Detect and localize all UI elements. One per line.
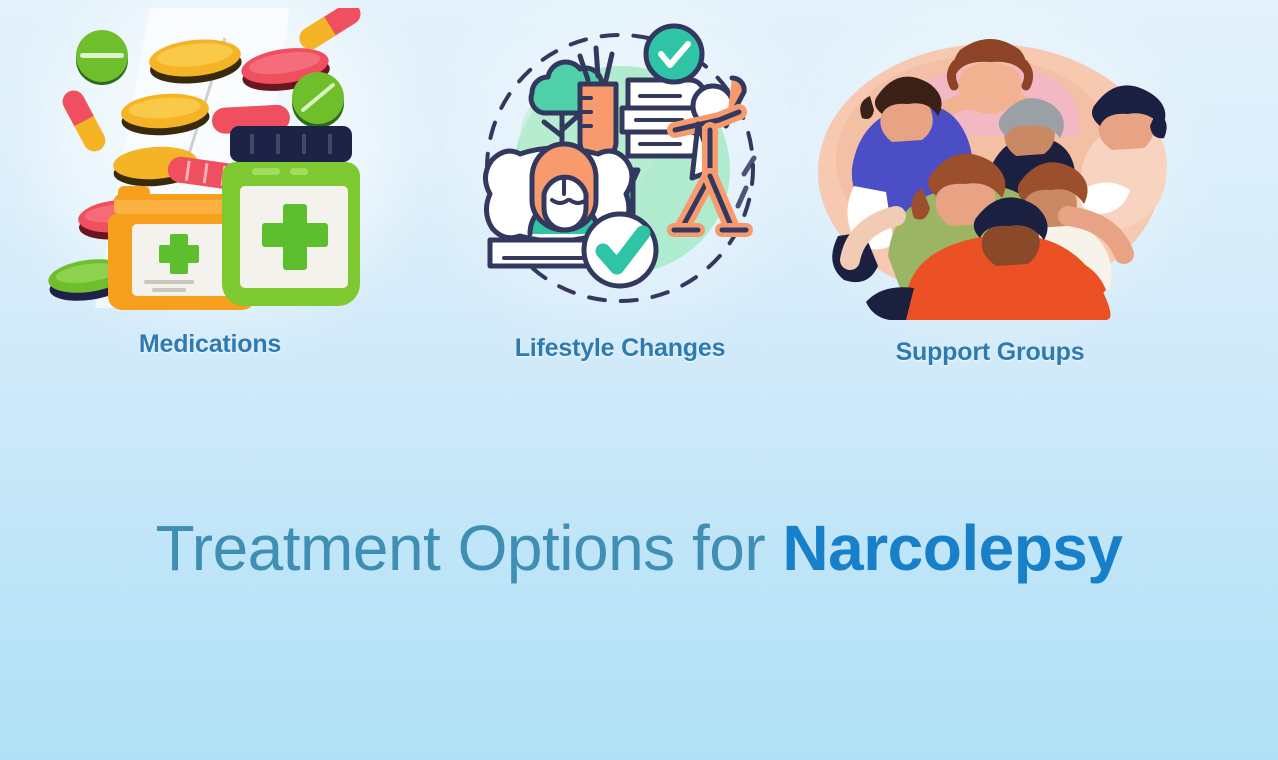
lifestyle-illustration bbox=[470, 18, 770, 318]
card-medications[interactable]: Medications bbox=[30, 8, 390, 359]
medications-illustration bbox=[40, 8, 380, 324]
poster-canvas: Medications bbox=[0, 0, 1278, 760]
lifestyle-icon bbox=[470, 18, 770, 318]
green-pill-bottle bbox=[222, 126, 360, 306]
card-label-lifestyle: Lifestyle Changes bbox=[455, 334, 785, 363]
medications-icon bbox=[40, 8, 380, 324]
sleep-check-icon bbox=[584, 214, 656, 286]
support-illustration bbox=[810, 20, 1170, 320]
card-label-medications: Medications bbox=[30, 330, 390, 359]
card-support[interactable]: Support Groups bbox=[805, 20, 1175, 367]
headline-plain-text: Treatment Options for bbox=[156, 512, 783, 584]
headline-accent-text: Narcolepsy bbox=[782, 512, 1122, 584]
card-row: Medications bbox=[0, 0, 1278, 420]
carrot-icon bbox=[580, 48, 616, 160]
check-badge-icon bbox=[646, 26, 702, 82]
card-label-support: Support Groups bbox=[805, 338, 1175, 367]
support-group-icon bbox=[810, 20, 1170, 320]
card-lifestyle[interactable]: Lifestyle Changes bbox=[455, 18, 785, 363]
page-title: Treatment Options for Narcolepsy bbox=[0, 515, 1278, 582]
